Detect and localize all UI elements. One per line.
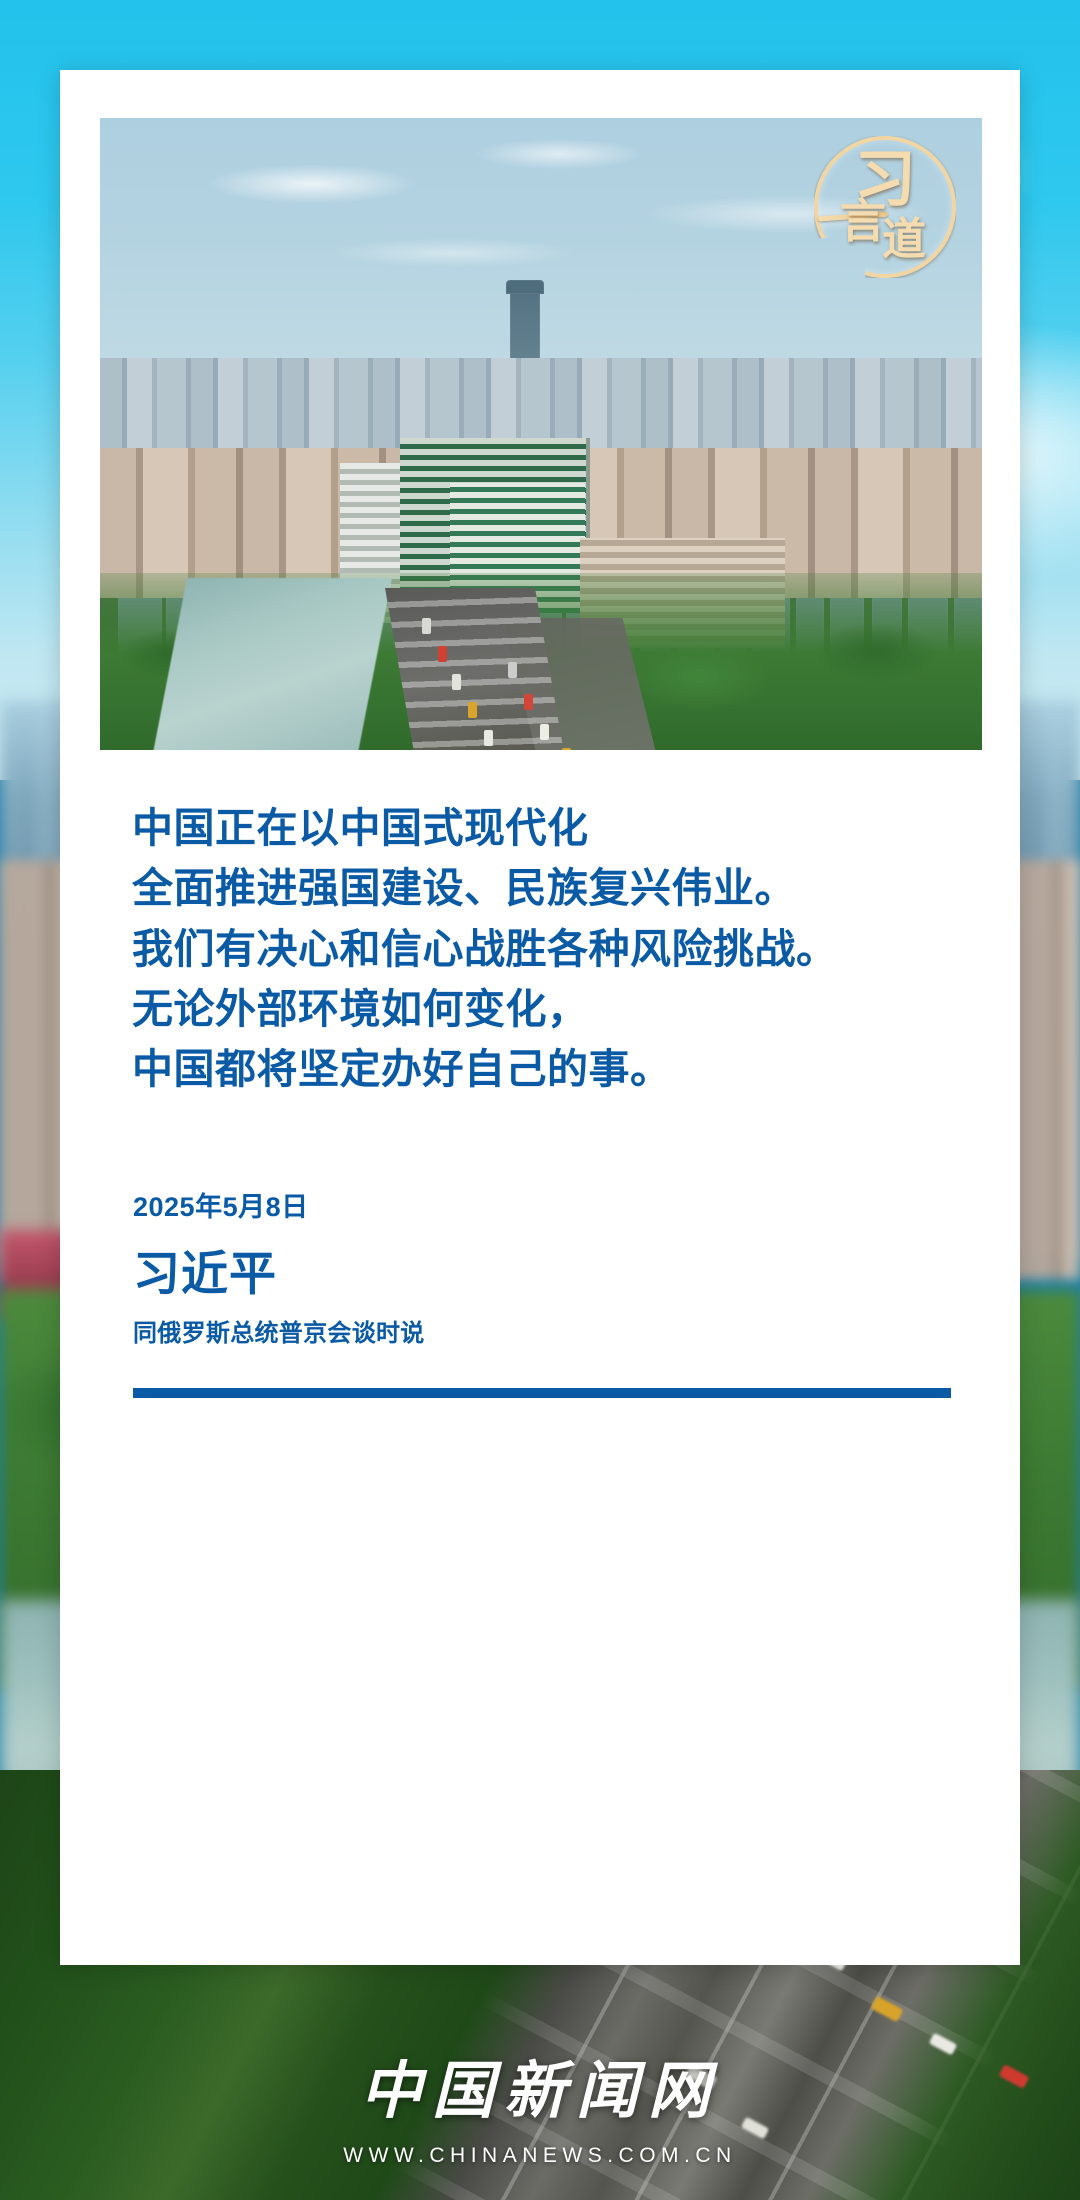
brand-url: WWW.CHINANEWS.COM.CN	[0, 2144, 1080, 2168]
speaker-name: 习近平	[133, 1235, 425, 1304]
quote-text: 中国正在以中国式现代化 全面推进强国建设、民族复兴伟业。 我们有决心和信心战胜各…	[132, 798, 962, 1099]
poster-card: 习 言 道 中国正在以中国式现代化 全面推进强国建设、民族复兴伟业。 我们有决心…	[60, 70, 1020, 1965]
brand-name: 中国新闻网	[0, 2040, 1080, 2130]
hero-photo: 习 言 道	[100, 118, 982, 750]
quote-line-2: 全面推进强国建设、民族复兴伟业。	[132, 858, 962, 918]
divider-rule	[133, 1388, 951, 1398]
quote-line-5: 中国都将坚定办好自己的事。	[132, 1039, 962, 1099]
xi-yan-dao-seal-logo: 习 言 道	[814, 136, 956, 278]
footer-brand: 中国新闻网 WWW.CHINANEWS.COM.CN	[0, 2040, 1080, 2168]
quote-line-1: 中国正在以中国式现代化	[132, 798, 962, 858]
attribution-block: 2025年5月8日 习近平 同俄罗斯总统普京会谈时说	[133, 1185, 425, 1348]
quote-line-3: 我们有决心和信心战胜各种风险挑战。	[132, 919, 962, 979]
seal-glyph-dao: 道	[882, 218, 926, 262]
seal-glyph-yan: 言	[840, 198, 886, 244]
quote-occasion: 同俄罗斯总统普京会谈时说	[133, 1313, 425, 1348]
quote-line-4: 无论外部环境如何变化，	[132, 979, 962, 1039]
quote-date: 2025年5月8日	[133, 1185, 425, 1224]
